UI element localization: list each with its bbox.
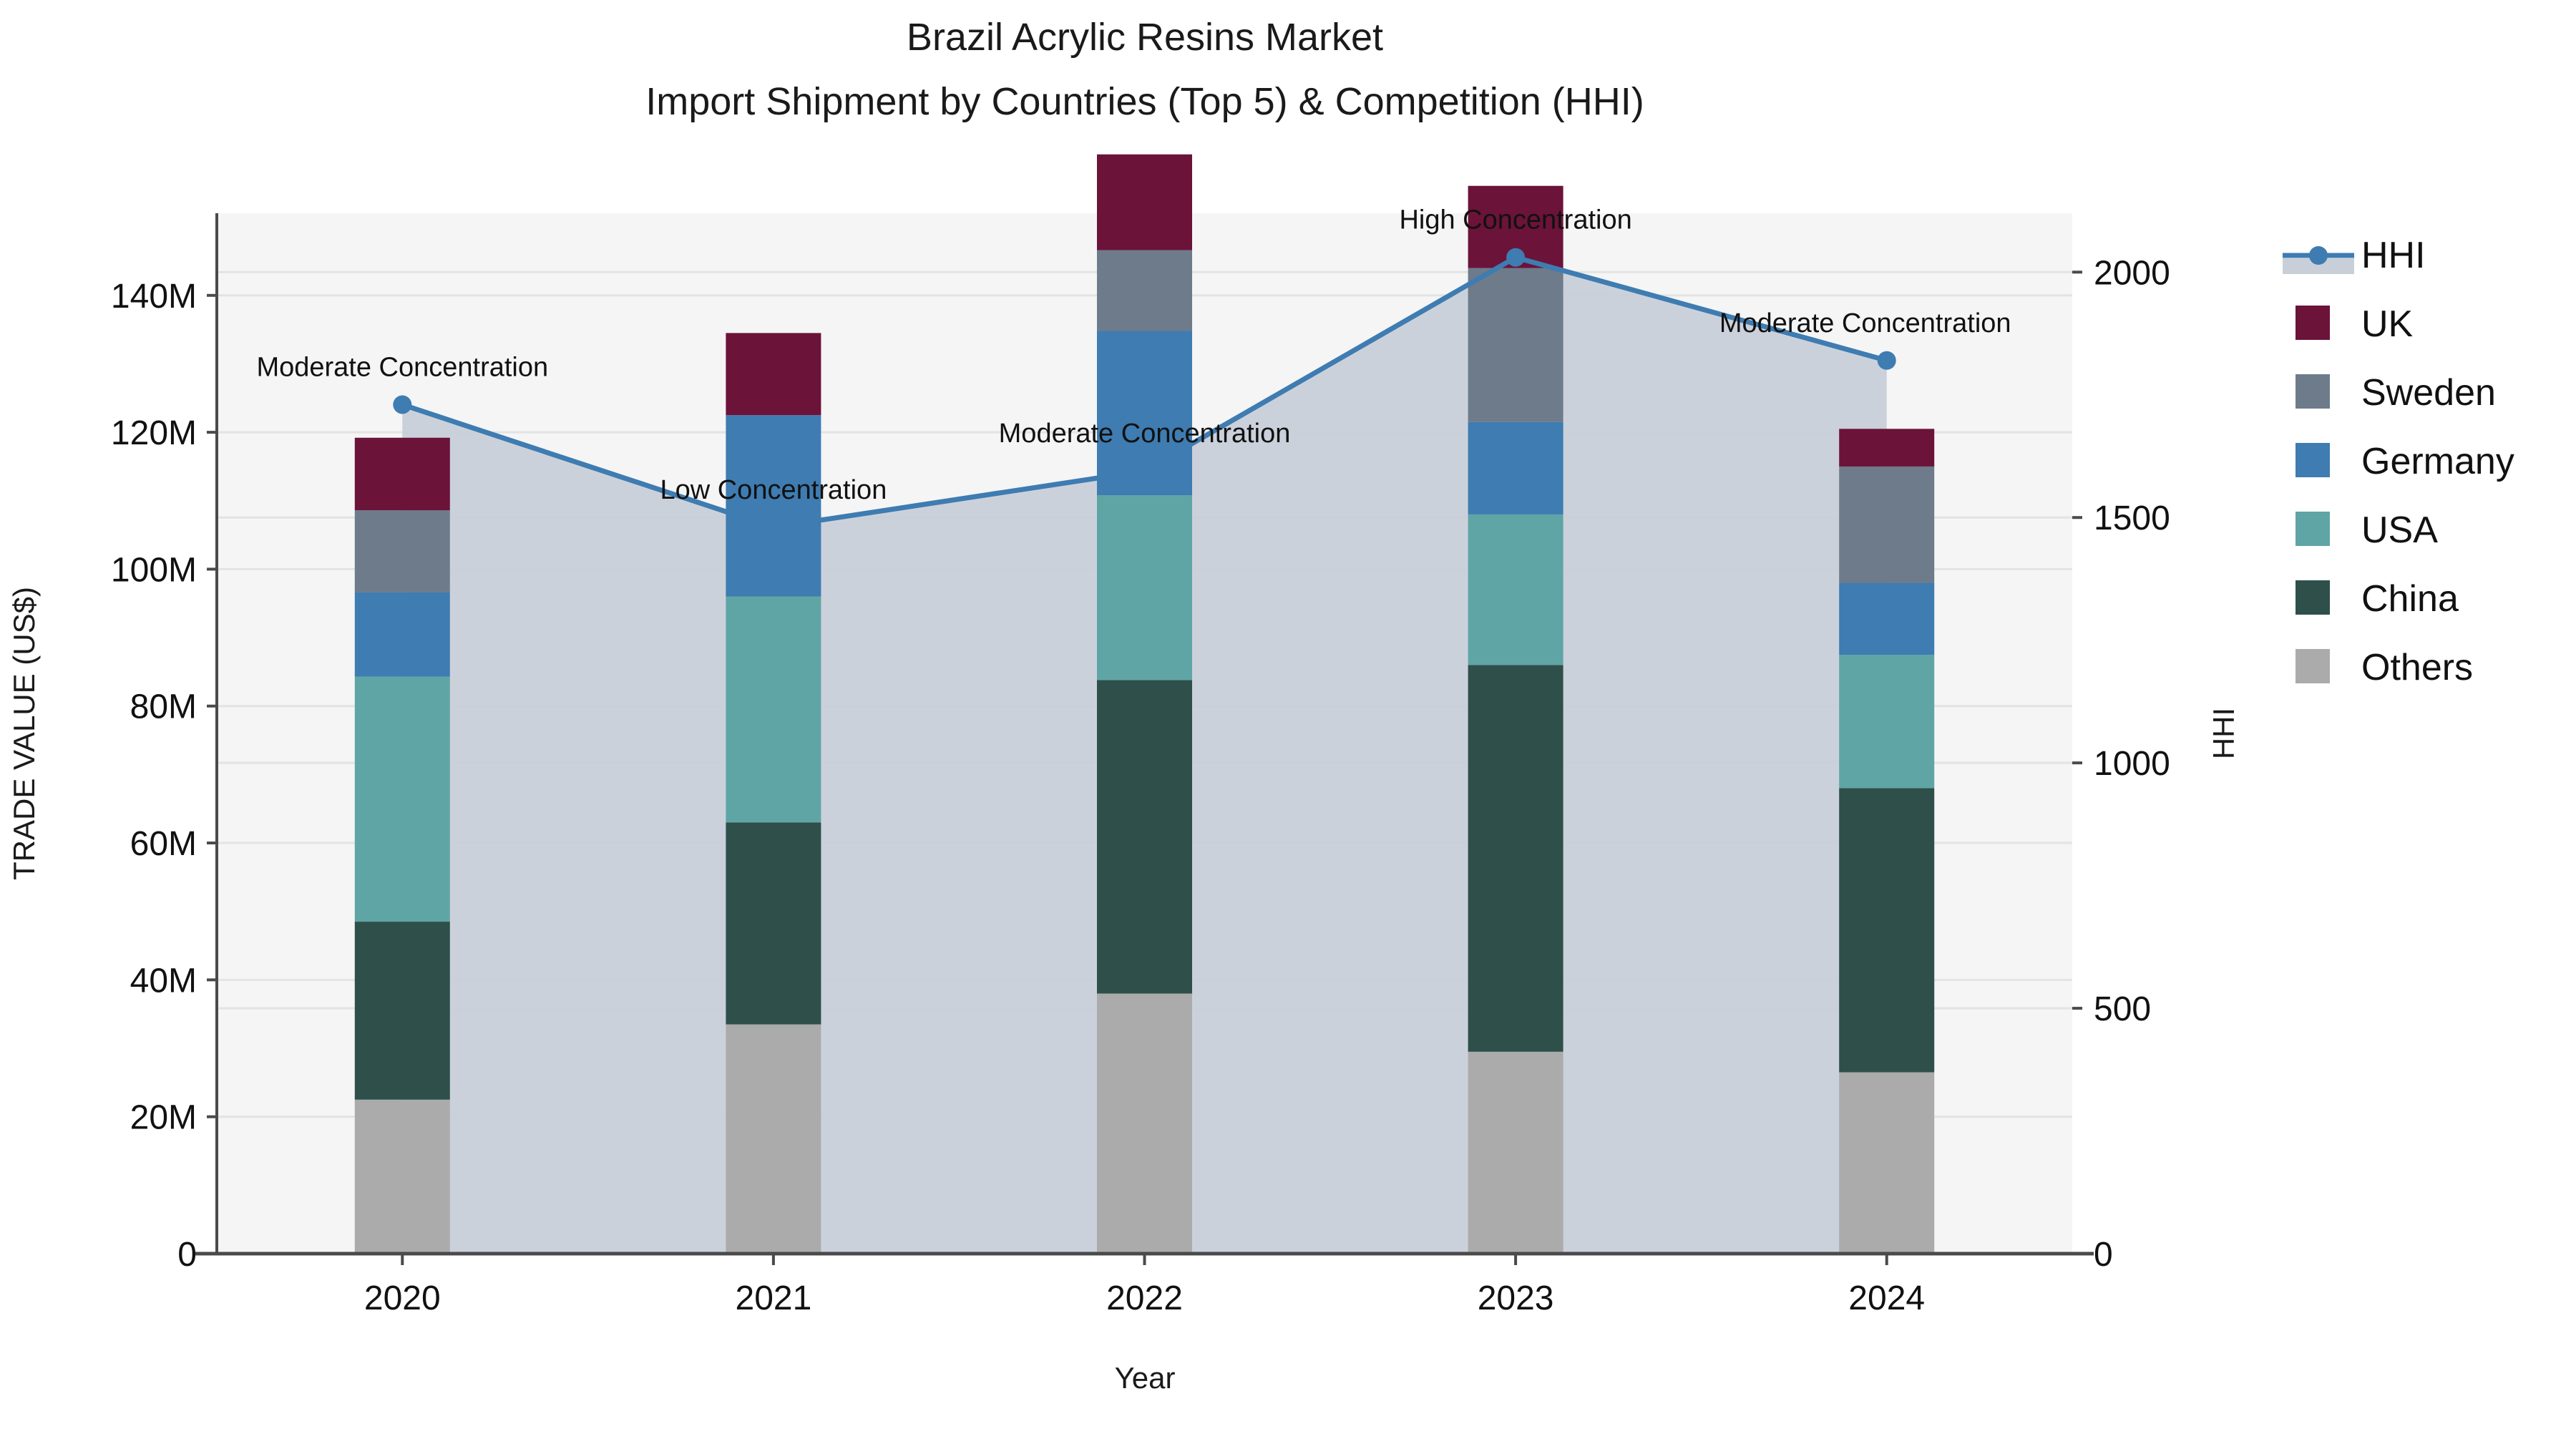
bar-segment-usa-2024[interactable]: [1839, 655, 1934, 789]
x-ticklabel-2023: 2023: [1478, 1279, 1554, 1317]
bar-segment-others-2022[interactable]: [1097, 994, 1192, 1254]
legend-label-usa: USA: [2361, 509, 2438, 551]
bar-segment-usa-2020[interactable]: [355, 677, 450, 922]
bar-segment-sweden-2020[interactable]: [355, 510, 450, 592]
bar-segment-germany-2024[interactable]: [1839, 583, 1934, 655]
bar-group-2021[interactable]: [726, 333, 821, 1254]
bar-segment-china-2022[interactable]: [1097, 680, 1192, 993]
bar-segment-china-2020[interactable]: [355, 922, 450, 1100]
x-ticklabel-2022: 2022: [1106, 1279, 1183, 1317]
legend-swatch-germany: [2296, 443, 2330, 477]
y-ticklabel-right: 500: [2094, 990, 2151, 1028]
y-ticklabel-right: 1000: [2094, 745, 2170, 783]
x-ticklabel-2024: 2024: [1848, 1279, 1925, 1317]
legend-item-usa[interactable]: USA: [2296, 509, 2438, 551]
legend-hhi-marker-swatch: [2309, 246, 2328, 265]
legend-item-others[interactable]: Others: [2296, 647, 2473, 688]
legend-item-germany[interactable]: Germany: [2296, 441, 2514, 482]
bar-group-2023[interactable]: [1468, 186, 1563, 1254]
hhi-marker-2023[interactable]: [1506, 248, 1525, 267]
bar-segment-germany-2021[interactable]: [726, 415, 821, 596]
legend-swatch-china: [2296, 580, 2330, 615]
chart-title: Brazil Acrylic Resins Market: [907, 16, 1383, 59]
legend-item-sweden[interactable]: Sweden: [2296, 372, 2496, 414]
legend-swatch-sweden: [2296, 374, 2330, 409]
bar-segment-usa-2023[interactable]: [1468, 514, 1563, 665]
y-ticklabel-left: 80M: [130, 688, 197, 726]
y-ticklabel-right: 1500: [2094, 499, 2170, 537]
x-ticklabel-2020: 2020: [364, 1279, 441, 1317]
legend-label-germany: Germany: [2361, 441, 2514, 482]
bar-group-2022[interactable]: [1097, 155, 1192, 1254]
y-ticklabel-left: 60M: [130, 825, 197, 863]
y-ticklabel-left: 20M: [130, 1099, 197, 1137]
legend-label-others: Others: [2361, 647, 2473, 688]
annotation-2020: Moderate Concentration: [256, 352, 548, 382]
bar-group-2024[interactable]: [1839, 429, 1934, 1254]
y-ticklabel-left: 140M: [111, 278, 197, 316]
bar-segment-others-2020[interactable]: [355, 1100, 450, 1254]
y-ticklabel-left: 120M: [111, 414, 197, 452]
y-ticklabel-left: 40M: [130, 962, 197, 1000]
hhi-marker-2024[interactable]: [1878, 351, 1896, 370]
hhi-marker-2021[interactable]: [764, 518, 783, 537]
annotation-2021: Low Concentration: [660, 475, 887, 505]
bar-segment-germany-2023[interactable]: [1468, 422, 1563, 514]
annotation-2024: Moderate Concentration: [1719, 308, 2011, 338]
legend-label-uk: UK: [2361, 303, 2414, 345]
bar-segment-usa-2022[interactable]: [1097, 495, 1192, 680]
legend-swatch-uk: [2296, 306, 2330, 340]
legend-item-china[interactable]: China: [2296, 578, 2459, 620]
bar-segment-others-2024[interactable]: [1839, 1073, 1934, 1254]
bar-segment-usa-2021[interactable]: [726, 597, 821, 823]
bar-segment-china-2024[interactable]: [1839, 789, 1934, 1073]
bar-segment-sweden-2024[interactable]: [1839, 467, 1934, 583]
hhi-marker-2020[interactable]: [393, 395, 411, 414]
bar-segment-uk-2022[interactable]: [1097, 155, 1192, 250]
x-ticklabel-2021: 2021: [736, 1279, 812, 1317]
chart-subtitle: Import Shipment by Countries (Top 5) & C…: [645, 80, 1644, 123]
y-ticklabel-left: 100M: [111, 551, 197, 589]
y-axis-label-left: TRADE VALUE (US$): [7, 587, 41, 880]
bar-segment-uk-2024[interactable]: [1839, 429, 1934, 467]
y-ticklabel-left: 0: [177, 1236, 197, 1274]
x-axis-label: Year: [1115, 1361, 1176, 1395]
bar-segment-sweden-2023[interactable]: [1468, 268, 1563, 422]
annotation-2023: High Concentration: [1399, 205, 1631, 235]
bar-segment-china-2023[interactable]: [1468, 665, 1563, 1051]
legend-swatch-usa: [2296, 512, 2330, 546]
bar-segment-germany-2020[interactable]: [355, 592, 450, 677]
legend-label-sweden: Sweden: [2361, 372, 2496, 414]
legend-label-china: China: [2361, 578, 2459, 620]
bar-segment-uk-2021[interactable]: [726, 333, 821, 415]
y-axis-label-right: HHI: [2207, 708, 2240, 759]
bar-segment-uk-2020[interactable]: [355, 438, 450, 510]
y-ticklabel-right: 0: [2094, 1236, 2113, 1274]
legend-swatch-others: [2296, 649, 2330, 683]
hhi-marker-2022[interactable]: [1136, 462, 1154, 480]
bar-segment-china-2021[interactable]: [726, 822, 821, 1024]
bar-group-2020[interactable]: [355, 438, 450, 1254]
chart-canvas: Brazil Acrylic Resins Market Import Ship…: [0, 0, 2576, 1449]
bar-segment-others-2021[interactable]: [726, 1025, 821, 1254]
y-ticklabel-right: 2000: [2094, 254, 2170, 292]
legend-label-hhi: HHI: [2361, 235, 2426, 276]
annotation-2022: Moderate Concentration: [999, 419, 1291, 449]
bar-segment-others-2023[interactable]: [1468, 1052, 1563, 1254]
chart-svg: Brazil Acrylic Resins Market Import Ship…: [0, 0, 2576, 1449]
bar-segment-sweden-2022[interactable]: [1097, 250, 1192, 331]
